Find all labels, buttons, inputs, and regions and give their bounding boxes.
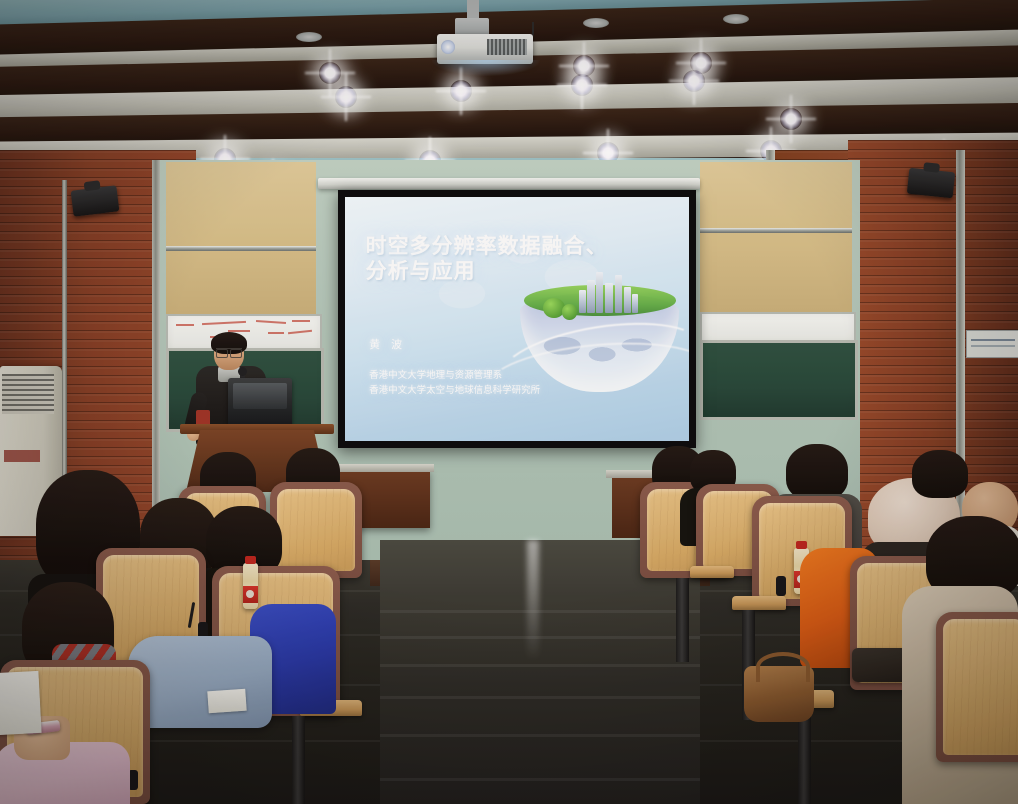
wall-notice-board [966,330,1018,358]
seat-leg [292,716,305,804]
projector-mount [467,0,479,20]
slide-globe-graphic [520,270,678,397]
panel-trim-left [166,246,316,251]
front-panel-right [700,162,852,312]
aisle-step [380,664,700,667]
aisle-step [380,696,700,699]
notice-line [971,345,1015,347]
downlight-1 [319,62,341,84]
water-bottle [243,563,258,609]
armrest [732,596,786,610]
hair [912,450,968,498]
center-aisle [380,540,700,804]
tree-icon [562,304,578,319]
seat-latch [776,576,786,596]
aisle-light-reflection [527,540,539,660]
slide-author: 黄 波 [369,336,406,352]
building [615,275,623,313]
armrest [690,566,734,578]
chalkboard-right [700,340,858,420]
board-scribble [268,332,284,334]
board-scribble [176,324,194,326]
downlight-7 [683,70,705,92]
seat-leg [676,578,689,662]
podium-monitor [228,378,292,428]
presentation-slide: 时空多分辨率数据融合、 分析与应用 黄 波 香港中文大学地理与资源管理系 香港中… [345,197,689,441]
ac-grille-icon [2,374,54,414]
ac-control-panel [4,450,40,462]
slide-title-line-1: 时空多分辨率数据融合、 [366,234,634,260]
projection-screen: 时空多分辨率数据融合、 分析与应用 黄 波 香港中文大学地理与资源管理系 香港中… [338,190,696,448]
projector-lens-icon [441,40,455,54]
downlight-6 [571,74,593,96]
seat-leg [798,708,811,804]
board-scribble [202,321,246,325]
board-scribble [288,330,312,334]
seat[interactable] [270,482,362,578]
seat-pad [277,489,355,571]
lecture-hall-scene: 时空多分辨率数据融合、 分析与应用 黄 波 香港中文大学地理与资源管理系 香港中… [0,0,1018,804]
aisle-step [380,610,700,613]
building [587,280,595,314]
building [579,290,586,313]
seat[interactable] [936,612,1018,762]
notice-line [971,339,1015,341]
bottle-cap [245,556,256,564]
handout-paper [0,671,42,735]
recessed-light-3 [723,14,749,24]
aisle-step [380,636,700,639]
aisle-step [380,778,700,781]
speaker-mount-icon [84,180,101,191]
hair [786,444,848,500]
seat-back [936,612,1018,762]
building [605,283,614,313]
presenter-glasses-icon [216,348,242,356]
projector-beam-glow [432,60,540,76]
wall-speaker-left [71,185,120,216]
downlight-5 [450,80,472,102]
projector-vents [487,39,527,55]
globe-city-skyline [577,270,640,313]
recessed-light-1 [296,32,322,42]
bottle-cap [796,541,807,549]
building [632,294,638,313]
recessed-light-2 [583,18,609,28]
downlight-4 [335,86,357,108]
notebook-page [207,689,246,714]
projection-screen-case [318,178,700,189]
board-scribble [256,320,286,324]
building [624,287,631,313]
speaker-mount-icon [923,162,940,173]
downlight-12 [780,108,802,130]
front-panel-left [166,162,316,314]
board-scribble [292,320,310,322]
building [596,272,603,313]
monitor-screen [233,383,287,409]
wall-speaker-right [907,168,955,199]
front-side-table-top [330,464,434,472]
aisle-step [380,734,700,737]
handbag-strap [756,652,810,682]
panel-trim-right [700,228,852,233]
seat-back [270,482,362,578]
bottle-label [243,586,258,603]
seat-pad [943,619,1018,755]
